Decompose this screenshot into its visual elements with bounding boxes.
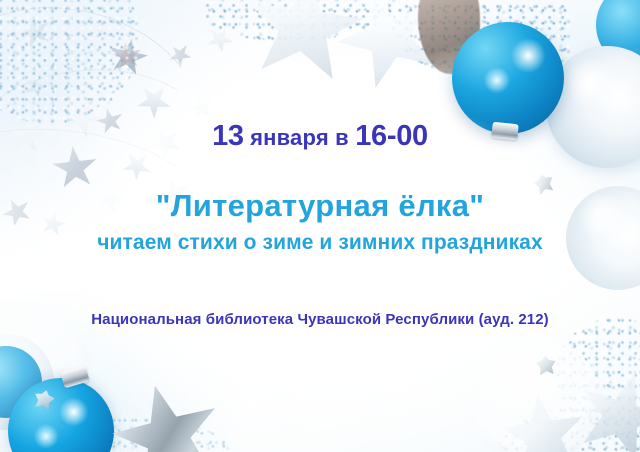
poster-text-layer: 13 января в 16-00 "Литературная ёлка" чи…	[0, 0, 640, 452]
venue-line: Национальная библиотека Чувашской Респуб…	[0, 311, 640, 328]
page-subtitle: читаем стихи о зиме и зимних праздниках	[0, 231, 640, 255]
event-time: 16-00	[355, 120, 428, 152]
event-date-month: января в	[244, 125, 355, 150]
event-date-day: 13	[212, 120, 244, 152]
winter-event-poster: 13 января в 16-00 "Литературная ёлка" чи…	[0, 0, 640, 452]
page-title: "Литературная ёлка"	[0, 188, 640, 224]
event-date-line: 13 января в 16-00	[0, 120, 640, 153]
